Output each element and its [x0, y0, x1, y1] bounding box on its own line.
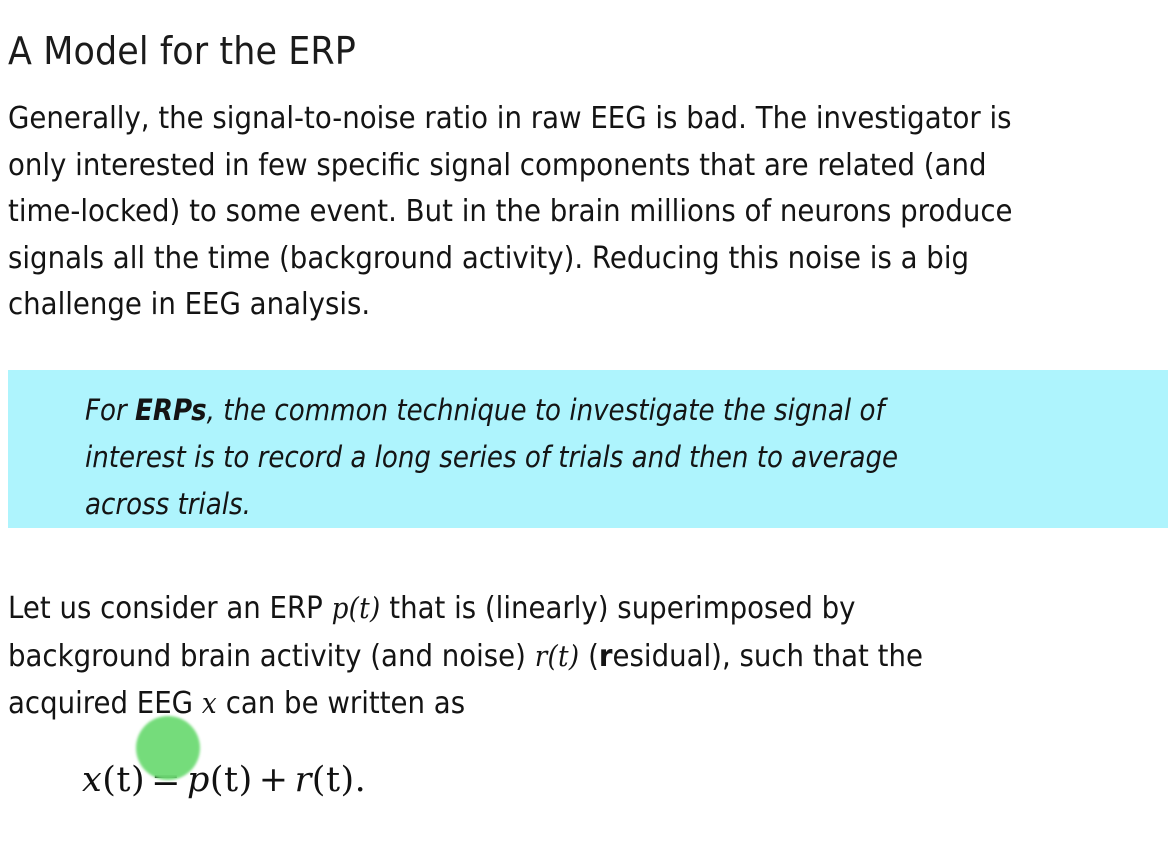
residual-bold-initial: r: [599, 639, 613, 674]
equation-term2-arg: (t): [312, 760, 355, 800]
model-line1-part1: Let us consider an ERP: [8, 591, 332, 626]
model-line3-part1: acquired EEG: [8, 686, 202, 721]
equation-term2-var: r: [295, 760, 312, 800]
equation-lhs-arg: (t): [102, 760, 145, 800]
model-paragraph: Let us consider an ERP p(t) that is (lin…: [8, 585, 1160, 728]
page-title: A Model for the ERP: [8, 27, 356, 75]
intro-paragraph: Generally, the signal-to-noise ratio in …: [8, 96, 1160, 329]
highlight-line-2: interest is to record a long series of t…: [85, 434, 1038, 481]
equation-term1-arg: (t): [210, 760, 253, 800]
highlight-callout-box: For ERPs, the common technique to invest…: [8, 370, 1168, 528]
equation-period: .: [355, 760, 367, 800]
equation-equals-op: =: [145, 760, 187, 800]
highlight-line1-suffix: , the common technique to investigate th…: [207, 393, 885, 427]
model-line2-part1: background brain activity (and noise): [8, 639, 535, 674]
model-line-1: Let us consider an ERP p(t) that is (lin…: [8, 585, 1051, 633]
model-line-3: acquired EEG x can be written as: [8, 680, 1051, 728]
highlight-line-3: across trials.: [85, 481, 1038, 528]
model-line1-part2: that is (linearly) superimposed by: [380, 591, 855, 626]
equation-plus-op: +: [253, 760, 295, 800]
intro-line-2: only interested in few specific signal c…: [8, 143, 1051, 190]
intro-line-3: time-locked) to some event. But in the b…: [8, 189, 1051, 236]
inline-math-p-of-t: p(t): [332, 591, 381, 625]
intro-line-4: signals all the time (background activit…: [8, 236, 1051, 283]
inline-math-x: x: [202, 686, 217, 720]
inline-math-r-of-t: r(t): [535, 639, 580, 673]
display-equation: x(t)=p(t)+r(t).: [82, 758, 366, 802]
model-line2-part2a: (: [579, 639, 599, 674]
highlight-line-1: For ERPs, the common technique to invest…: [85, 387, 1038, 434]
model-line-2: background brain activity (and noise) r(…: [8, 633, 1051, 681]
model-line3-part2: can be written as: [217, 686, 465, 721]
equation-lhs-var: x: [82, 760, 102, 800]
equation-term1-var: p: [187, 760, 210, 800]
highlight-box-text: For ERPs, the common technique to invest…: [85, 387, 1144, 528]
model-line2-part2b: esidual), such that the: [613, 639, 923, 674]
highlight-line1-prefix: For: [85, 393, 135, 427]
highlight-emphasis-term: ERPs: [135, 393, 207, 427]
intro-line-5: challenge in EEG analysis.: [8, 282, 1051, 329]
slide-canvas: A Model for the ERP Generally, the signa…: [0, 0, 1168, 853]
intro-line-1: Generally, the signal-to-noise ratio in …: [8, 96, 1051, 143]
